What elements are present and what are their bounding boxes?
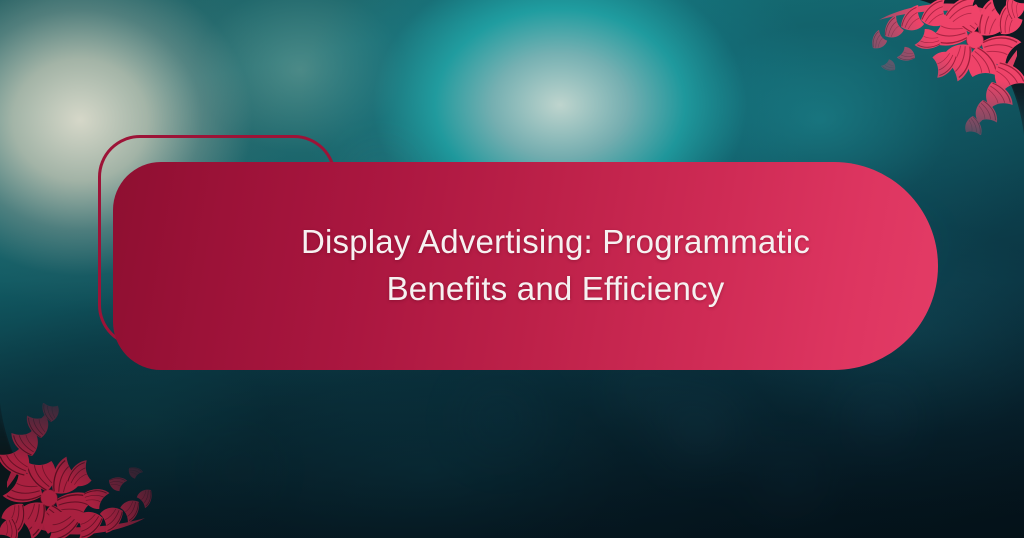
banner-title-text: Display Advertising: Programmatic Benefi… — [276, 219, 836, 313]
banner-title-block: Display Advertising: Programmatic Benefi… — [113, 162, 938, 370]
floral-corner-ornament-bottom-left — [0, 403, 175, 538]
banner-plate: Display Advertising: Programmatic Benefi… — [113, 162, 938, 370]
floral-corner-ornament-top-right — [849, 0, 1024, 135]
promo-banner-canvas: Display Advertising: Programmatic Benefi… — [0, 0, 1024, 538]
